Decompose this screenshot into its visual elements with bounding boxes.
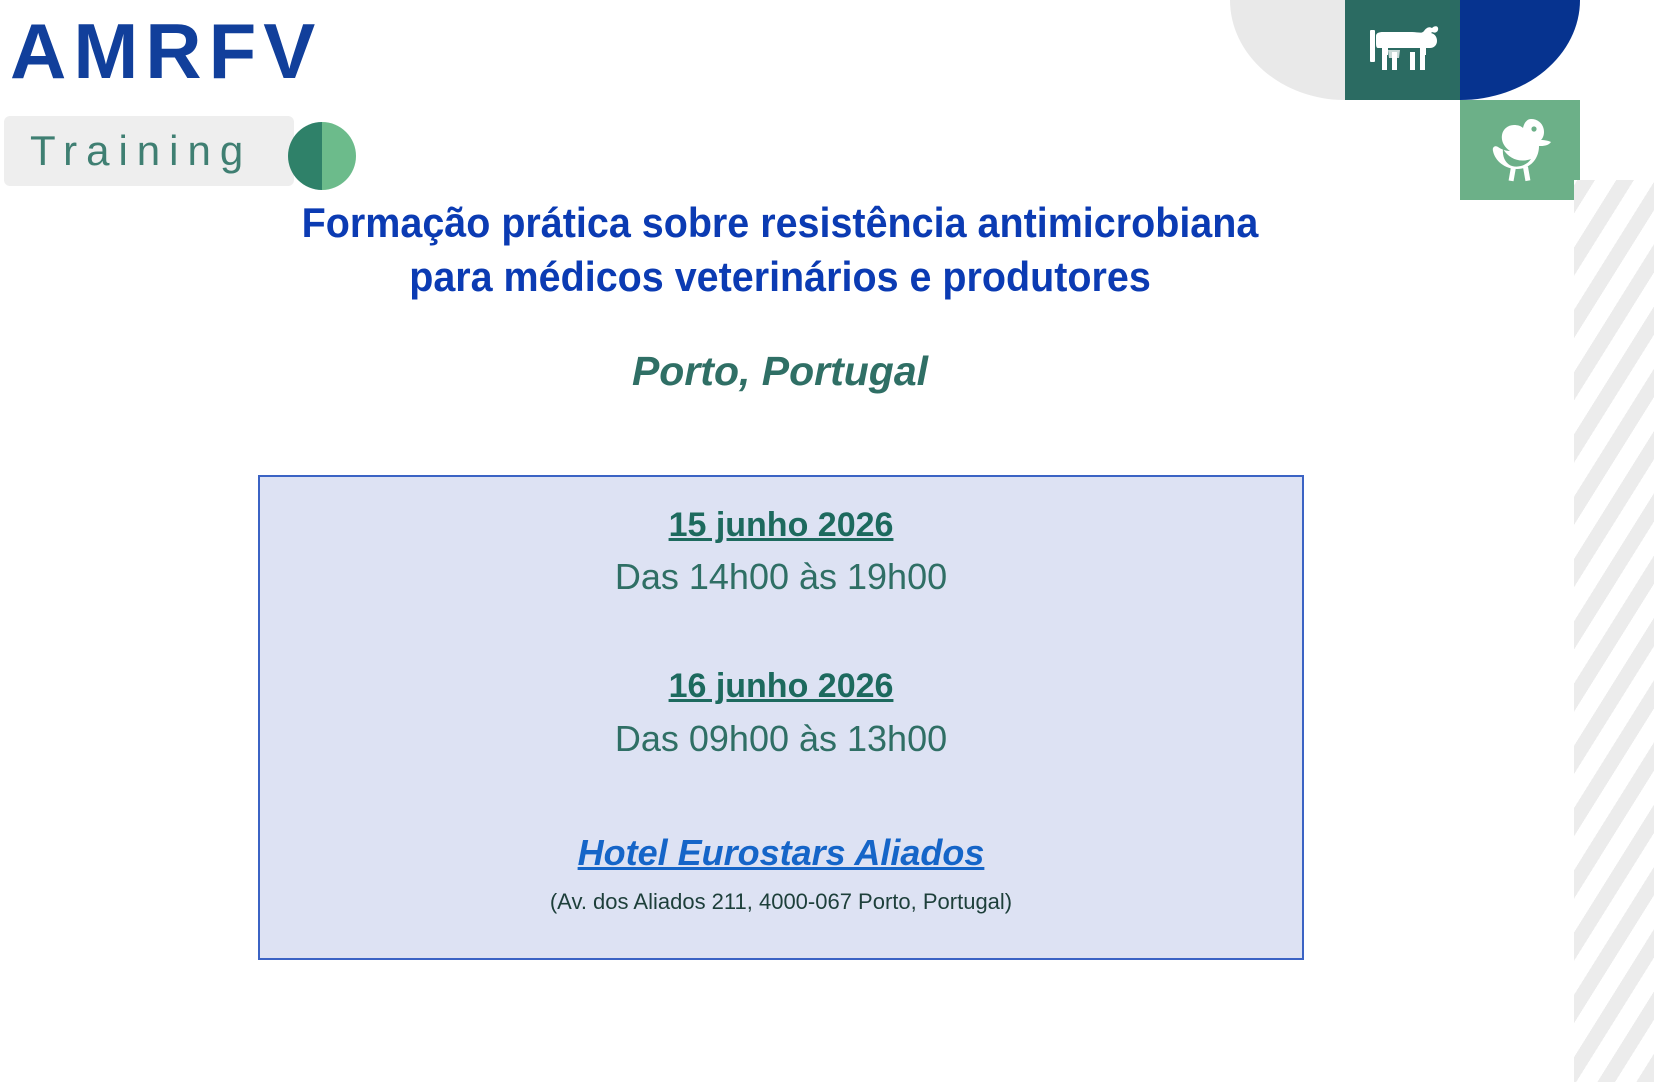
- diagonal-stripes-decoration: [1574, 180, 1654, 1082]
- session-2-date: 16 junho 2026: [260, 662, 1302, 711]
- amrfv-training-logo: AMRFV Training: [4, 8, 374, 193]
- duck-tile: [1460, 100, 1580, 200]
- spacer: [260, 604, 1302, 662]
- venue-link[interactable]: Hotel Eurostars Aliados: [260, 828, 1302, 878]
- page-title-line-1: Formação prática sobre resistência antim…: [216, 196, 1344, 250]
- venue-address: (Av. dos Aliados 211, 4000-067 Porto, Po…: [260, 884, 1302, 919]
- logo-wordmark: AMRFV: [10, 12, 322, 90]
- split-circle-icon: [288, 122, 356, 190]
- spacer: [260, 766, 1302, 828]
- cow-tile: [1345, 0, 1460, 100]
- cow-icon: [1366, 22, 1440, 78]
- corner-decoration: [1220, 0, 1654, 200]
- page-title-line-2: para médicos veterinários e produtores: [216, 250, 1344, 304]
- session-1-time: Das 14h00 às 19h00: [260, 550, 1302, 604]
- slide-root: AMRFV Training Formação prática sobre re…: [0, 0, 1654, 1082]
- duck-icon: [1487, 115, 1553, 185]
- page-subtitle-location: Porto, Portugal: [180, 348, 1380, 395]
- logo-subword: Training: [30, 130, 252, 172]
- session-2-time: Das 09h00 às 13h00: [260, 712, 1302, 766]
- event-details-box: 15 junho 2026 Das 14h00 às 19h00 16 junh…: [258, 475, 1304, 960]
- session-1-date: 15 junho 2026: [260, 501, 1302, 550]
- blue-quarter-circle: [1460, 0, 1580, 100]
- grey-quarter-circle: [1230, 0, 1345, 100]
- page-title: Formação prática sobre resistência antim…: [216, 196, 1344, 304]
